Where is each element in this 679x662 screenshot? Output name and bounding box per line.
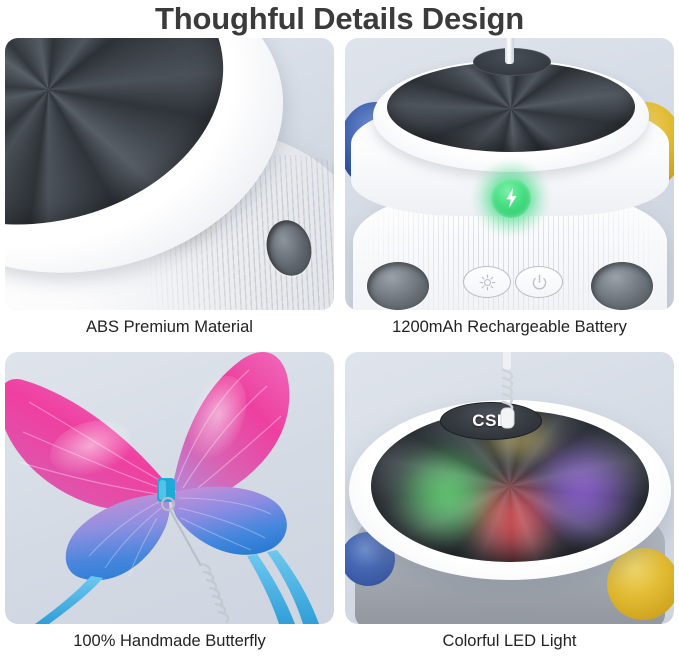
- caption-battery: 1200mAh Rechargeable Battery: [345, 316, 674, 338]
- wand-stem: [505, 38, 514, 64]
- product-image-battery: [345, 38, 674, 310]
- spring-wand: [473, 352, 543, 434]
- caption-led: Colorful LED Light: [345, 630, 674, 652]
- feature-cell-butterfly: 100% Handmade Butterfly: [5, 352, 334, 658]
- feature-cell-battery: 1200mAh Rechargeable Battery: [345, 38, 674, 344]
- butterfly-spring: [201, 564, 228, 622]
- butterfly-scene: [5, 352, 334, 624]
- lightning-bolt-icon: [505, 188, 518, 208]
- infographic-page: Thoughful Details Design ABS Premium Mat…: [0, 0, 679, 662]
- product-image-butterfly: [5, 352, 334, 624]
- charge-indicator: [491, 178, 531, 218]
- power-icon: [531, 274, 548, 291]
- caption-butterfly: 100% Handmade Butterfly: [5, 630, 334, 652]
- feature-cell-led: CSD Colorful LED: [345, 352, 674, 658]
- light-icon: [479, 274, 496, 291]
- butterfly-lower-left-wing: [66, 494, 170, 580]
- feature-cell-abs-material: ABS Premium Material: [5, 38, 334, 344]
- led-glow-purple: [529, 440, 635, 540]
- abs-material-scene: [5, 38, 334, 310]
- page-title: Thoughful Details Design: [0, 0, 679, 36]
- product-image-led: CSD: [345, 352, 674, 624]
- caption-abs-material: ABS Premium Material: [5, 316, 334, 338]
- feature-grid: ABS Premium Material: [5, 38, 674, 658]
- yellow-ball: [607, 548, 674, 620]
- ribbon-streamer-left: [35, 576, 103, 624]
- led-scene: CSD: [345, 352, 674, 624]
- side-port-hole-right: [591, 262, 653, 310]
- power-button[interactable]: [515, 266, 563, 298]
- butterfly-illustration: [5, 352, 334, 624]
- side-port-hole-left: [367, 262, 429, 310]
- battery-scene: [345, 38, 674, 310]
- light-button[interactable]: [463, 266, 511, 298]
- product-image-abs-material: [5, 38, 334, 310]
